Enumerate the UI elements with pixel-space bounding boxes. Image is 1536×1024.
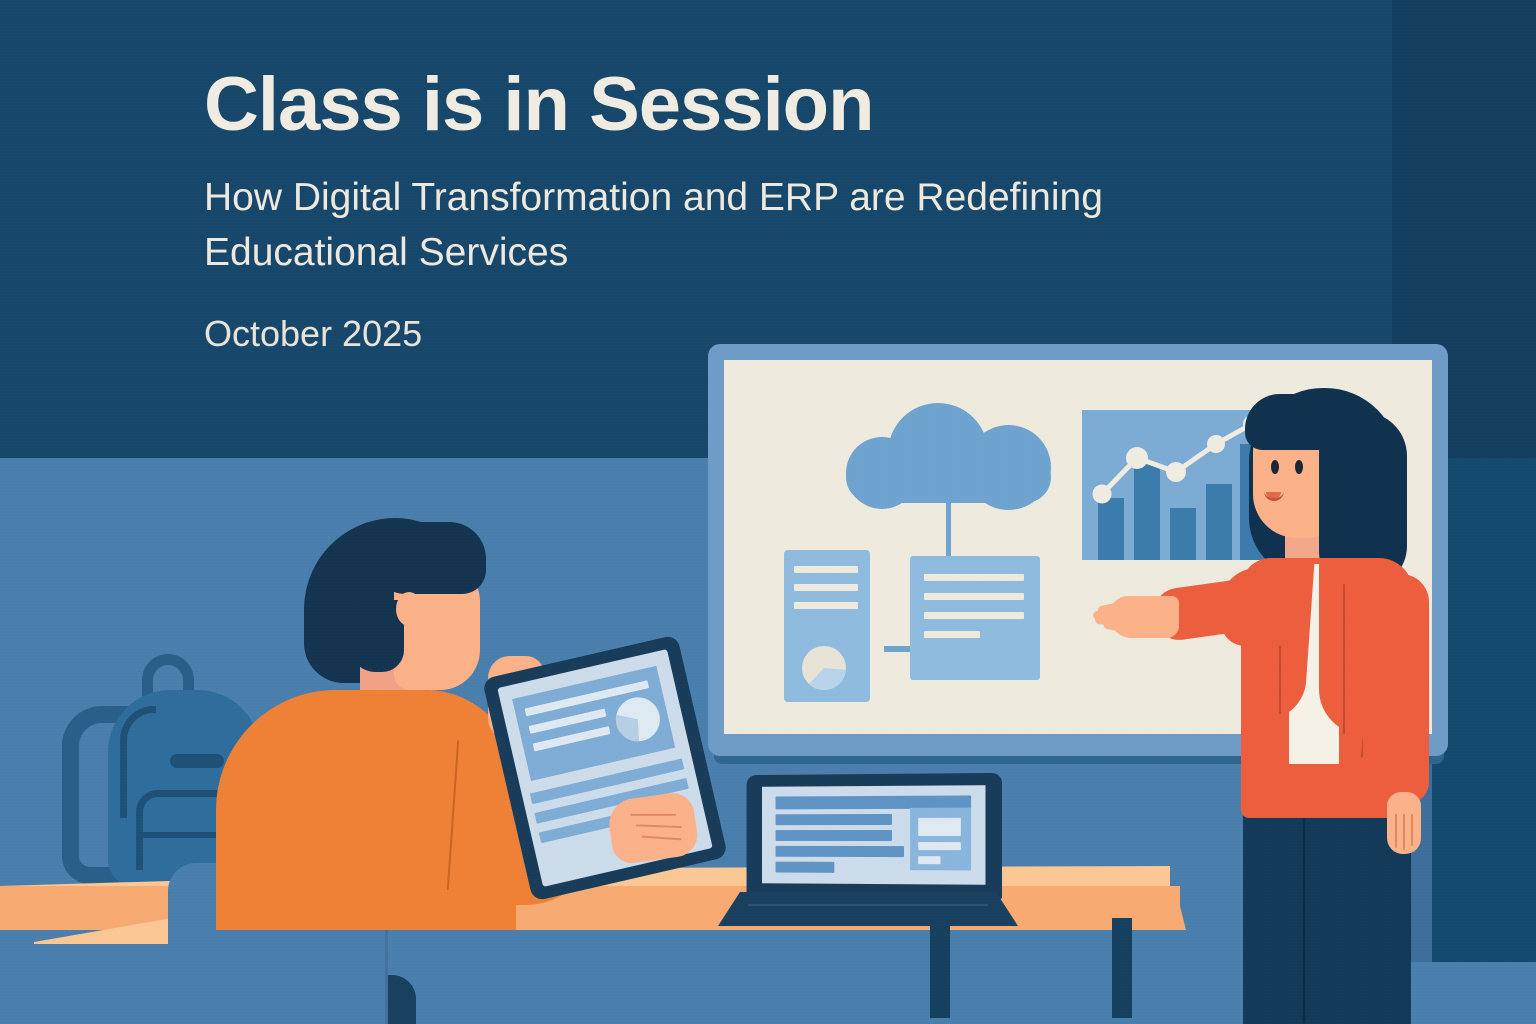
pie-chart-icon (802, 646, 846, 690)
tablet-content-card (512, 666, 675, 781)
tablet-pie-chart-icon (612, 693, 665, 746)
document-panel-icon (784, 550, 870, 702)
teacher-hand-gesture (1103, 584, 1179, 640)
laptop-base (718, 892, 1018, 928)
backpack-tab (170, 754, 224, 768)
teacher-eye-left (1271, 460, 1279, 474)
laptop-lid (747, 773, 1002, 899)
header-text-block: Class is in Session How Digital Transfor… (204, 64, 1324, 355)
laptop-screen (762, 785, 986, 885)
teacher-arm-right (1363, 574, 1429, 804)
desk-corner (1090, 886, 1186, 930)
cloud-connector-line (946, 500, 951, 556)
student-ear (396, 592, 422, 626)
student-hair-front (376, 522, 486, 594)
data-panel-icon (910, 556, 1040, 680)
desk-leg (1112, 918, 1132, 1018)
teacher-trousers (1243, 788, 1411, 1024)
illustration-canvas: Class is in Session How Digital Transfor… (0, 0, 1536, 1024)
teacher-hand-right (1387, 792, 1421, 854)
teacher-figure (1215, 388, 1475, 1024)
page-subtitle: How Digital Transformation and ERP are R… (204, 170, 1234, 281)
page-title: Class is in Session (204, 64, 1324, 146)
cloud-icon (846, 403, 1051, 503)
laptop-device (718, 774, 1018, 934)
teacher-eye-right (1295, 460, 1303, 474)
teacher-trouser-crease (1303, 818, 1305, 1023)
laptop-hinge-line (748, 904, 988, 906)
laptop-side-panel (910, 808, 971, 871)
